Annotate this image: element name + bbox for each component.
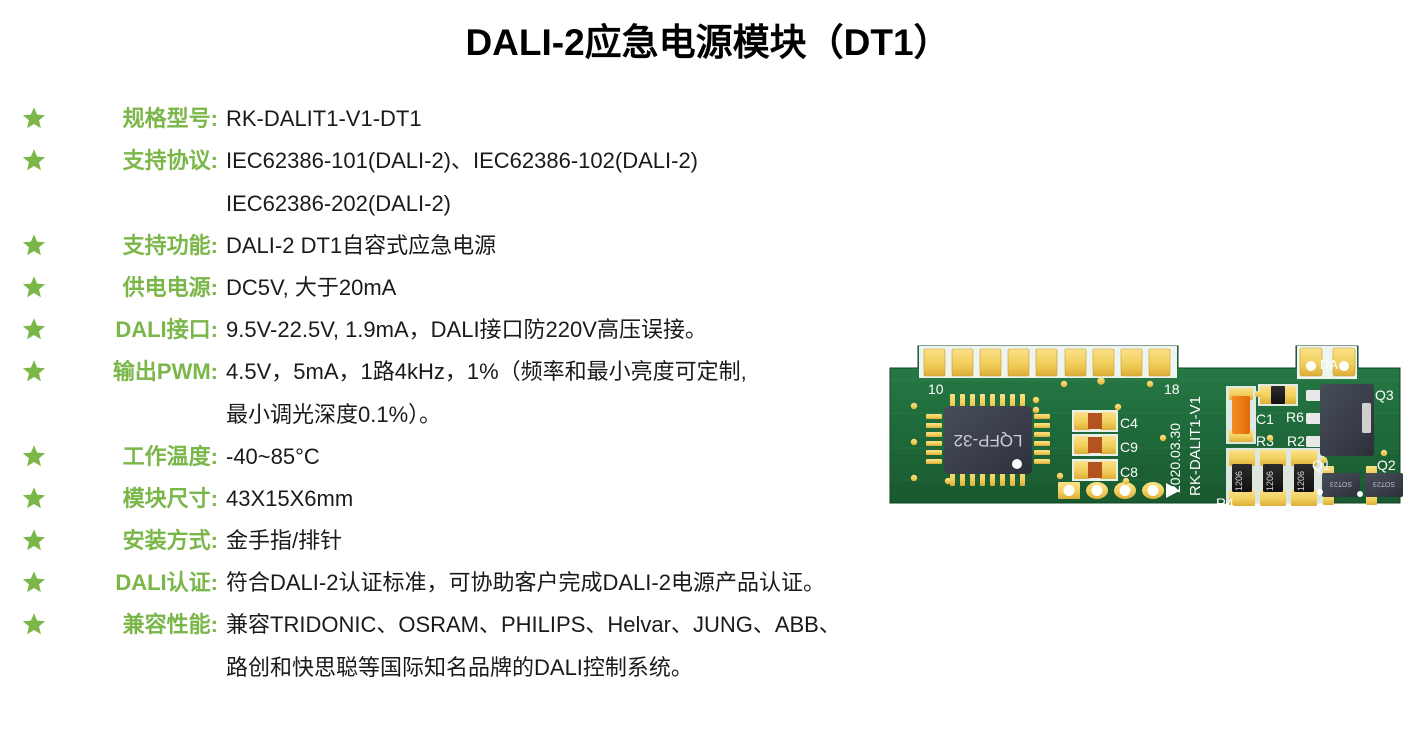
spec-row: 兼容性能:兼容TRIDONIC、OSRAM、PHILIPS、Helvar、JUN… (0, 608, 960, 684)
spec-value-line: RK-DALIT1-V1-DT1 (226, 102, 960, 135)
star-icon (0, 524, 68, 552)
spec-label: 兼容性能: (68, 608, 218, 641)
spec-value: RK-DALIT1-V1-DT1 (218, 102, 960, 135)
spec-value-line: 43X15X6mm (226, 482, 960, 515)
silk-board-name: RK-DALIT1-V1 (1187, 396, 1204, 496)
spec-label: 规格型号: (68, 102, 218, 135)
spec-value-line: 符合DALI-2认证标准，可协助客户完成DALI-2电源产品认证。 (226, 566, 960, 599)
spec-value: 43X15X6mm (218, 482, 960, 515)
silk-board-date: 2020.03.30 (1167, 423, 1183, 493)
spec-label: 工作温度: (68, 440, 218, 473)
spec-row: 供电电源:DC5V, 大于20mA (0, 271, 960, 304)
spec-row: 模块尺寸:43X15X6mm (0, 482, 960, 515)
spec-value-line: 路创和快思聪等国际知名品牌的DALI控制系统。 (226, 651, 960, 684)
spec-value-line: IEC62386-202(DALI-2) (226, 187, 960, 220)
designator-r4: R4 (1216, 495, 1234, 511)
spec-value-line: DC5V, 大于20mA (226, 271, 960, 304)
spec-label: 供电电源: (68, 271, 218, 304)
star-icon (0, 482, 68, 510)
designator-q3: Q3 (1375, 387, 1394, 403)
spec-value: -40~85°C (218, 440, 960, 473)
star-icon (0, 313, 68, 341)
page-title: DALI-2应急电源模块（DT1） (0, 12, 1416, 66)
spec-label: DALI认证: (68, 566, 218, 599)
spec-label: DALI接口: (68, 313, 218, 346)
silk-pin-10: 10 (928, 381, 944, 397)
star-icon (0, 608, 68, 636)
spec-value-line: 4.5V，5mA，1路4kHz，1%（频率和最小亮度可定制, (226, 355, 960, 388)
spec-row: 工作温度:-40~85°C (0, 440, 960, 473)
spec-value-line: 金手指/排针 (226, 524, 960, 557)
spec-label: 模块尺寸: (68, 482, 218, 515)
pcb-illustration: DA 10 18 RK-DALIT1-V1 2020.03.30 (888, 318, 1404, 523)
spec-value: IEC62386-101(DALI-2)、IEC62386-102(DALI-2… (218, 144, 960, 220)
star-icon (0, 102, 68, 130)
svg-text:SOT23: SOT23 (1330, 480, 1352, 487)
resistor-code-r4: 1206 (1234, 471, 1244, 491)
spec-row: 输出PWM:4.5V，5mA，1路4kHz，1%（频率和最小亮度可定制,最小调光… (0, 355, 960, 431)
spec-row: DALI接口:9.5V-22.5V, 1.9mA，DALI接口防220V高压误接… (0, 313, 960, 346)
spec-value-line: 9.5V-22.5V, 1.9mA，DALI接口防220V高压误接。 (226, 313, 960, 346)
spec-row: 规格型号:RK-DALIT1-V1-DT1 (0, 102, 960, 135)
designator-r2: R2 (1287, 433, 1305, 449)
pcb-photo: DA 10 18 RK-DALIT1-V1 2020.03.30 (888, 318, 1404, 523)
spec-value: DC5V, 大于20mA (218, 271, 960, 304)
spec-value-line: 最小调光深度0.1%）。 (226, 398, 960, 431)
spec-value: DALI-2 DT1自容式应急电源 (218, 229, 960, 262)
star-icon (0, 271, 68, 299)
silk-da-label: DA (1320, 357, 1338, 372)
spec-value: 兼容TRIDONIC、OSRAM、PHILIPS、Helvar、JUNG、ABB… (218, 608, 960, 684)
star-icon (0, 566, 68, 594)
spec-value-line: -40~85°C (226, 440, 960, 473)
star-icon (0, 144, 68, 172)
star-icon (0, 440, 68, 468)
spec-value: 金手指/排针 (218, 524, 960, 557)
designator-q2: Q2 (1377, 457, 1396, 473)
spec-label: 支持协议: (68, 144, 218, 177)
spec-value: 符合DALI-2认证标准，可协助客户完成DALI-2电源产品认证。 (218, 566, 960, 599)
spec-value-line: IEC62386-101(DALI-2)、IEC62386-102(DALI-2… (226, 144, 960, 177)
svg-text:SOT23: SOT23 (1373, 480, 1395, 487)
spec-value: 4.5V，5mA，1路4kHz，1%（频率和最小亮度可定制,最小调光深度0.1%… (218, 355, 960, 431)
resistor-code-r2: 1206 (1296, 471, 1306, 491)
spec-value: 9.5V-22.5V, 1.9mA，DALI接口防220V高压误接。 (218, 313, 960, 346)
star-icon (0, 355, 68, 383)
spec-value-line: 兼容TRIDONIC、OSRAM、PHILIPS、Helvar、JUNG、ABB… (226, 608, 960, 641)
designator-c4: C4 (1120, 415, 1138, 431)
designator-c9: C9 (1120, 439, 1138, 455)
designator-r6: R6 (1286, 409, 1304, 425)
resistor-code-r3: 1206 (1265, 471, 1275, 491)
spec-row: 支持功能:DALI-2 DT1自容式应急电源 (0, 229, 960, 262)
spec-row: DALI认证:符合DALI-2认证标准，可协助客户完成DALI-2电源产品认证。 (0, 566, 960, 599)
spec-label: 支持功能: (68, 229, 218, 262)
silk-pin-18: 18 (1164, 381, 1180, 397)
capacitor-group-c4-c9-c8: C4 C9 C8 (1072, 410, 1138, 481)
star-icon (0, 229, 68, 257)
designator-c8: C8 (1120, 464, 1138, 480)
spec-label: 安装方式: (68, 524, 218, 557)
designator-c1: C1 (1256, 411, 1274, 427)
gold-finger-connector (919, 346, 1177, 378)
silk-ic-marking: LQFP-32 (954, 431, 1023, 450)
spec-row: 支持协议:IEC62386-101(DALI-2)、IEC62386-102(D… (0, 144, 960, 220)
specification-list: 规格型号:RK-DALIT1-V1-DT1支持协议:IEC62386-101(D… (0, 102, 960, 693)
product-spec-page: DALI-2应急电源模块（DT1） 规格型号:RK-DALIT1-V1-DT1支… (0, 0, 1416, 750)
spec-row: 安装方式:金手指/排针 (0, 524, 960, 557)
spec-value-line: DALI-2 DT1自容式应急电源 (226, 229, 960, 262)
spec-label: 输出PWM: (68, 355, 218, 388)
da-connector-pads: DA (1297, 346, 1357, 379)
